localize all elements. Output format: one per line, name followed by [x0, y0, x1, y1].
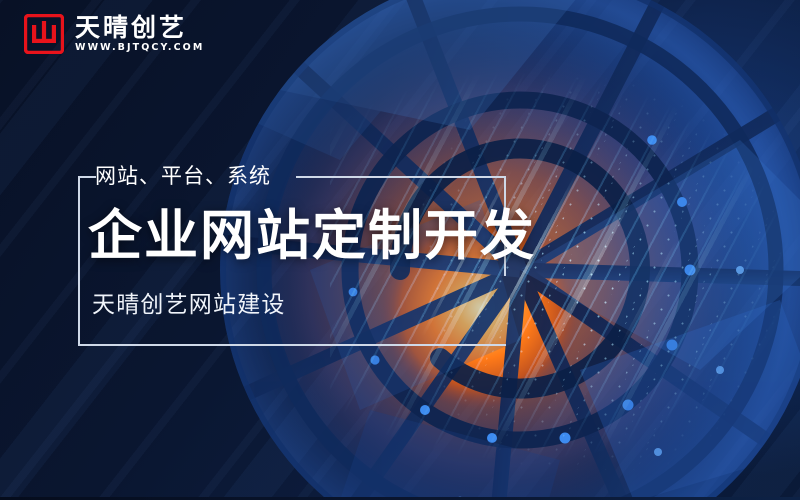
logo-text-group: 天晴创艺 WWW.BJTQCY.COM [75, 15, 204, 53]
frame-line-top-right [296, 176, 506, 178]
hero-content: 网站、平台、系统 企业网站定制开发 天晴创艺网站建设 [0, 0, 800, 500]
promo-banner: 天晴创艺 WWW.BJTQCY.COM 网站、平台、系统 企业网站定制开发 天晴… [0, 0, 800, 500]
hero-headline: 企业网站定制开发 [88, 202, 536, 270]
frame-line-top-left [78, 176, 96, 178]
tianqing-chuangyi-logo-mark [24, 14, 64, 54]
brand-logo[interactable]: 天晴创艺 WWW.BJTQCY.COM [24, 14, 204, 54]
hero-subline: 天晴创艺网站建设 [92, 288, 286, 322]
frame-line-left [78, 176, 80, 346]
hero-eyebrow: 网站、平台、系统 [95, 161, 271, 191]
frame-line-bottom [78, 344, 506, 346]
logo-company-name: 天晴创艺 [75, 15, 204, 40]
logo-website-url: WWW.BJTQCY.COM [75, 43, 204, 53]
